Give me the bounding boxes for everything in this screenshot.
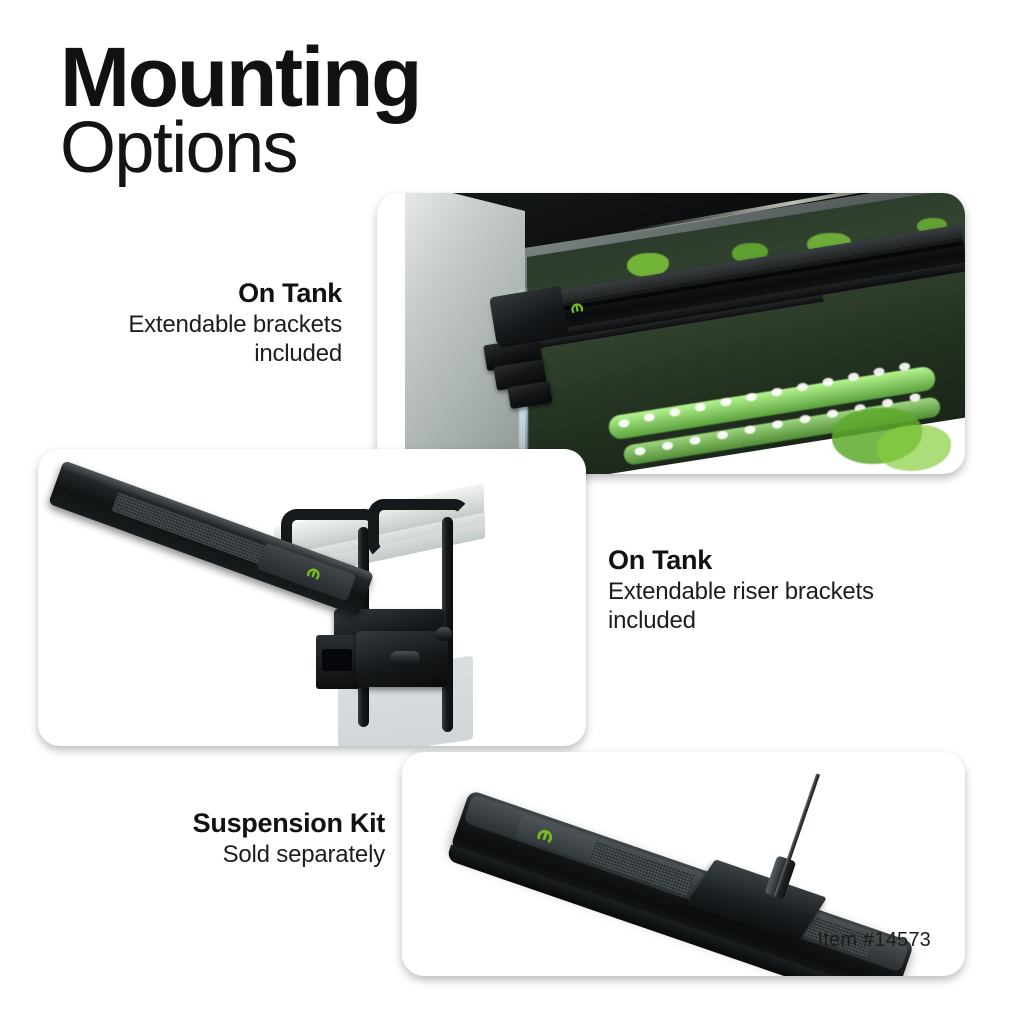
page-title-line2: Options [60, 114, 420, 182]
panel-suspension-kit: Item #14573 [402, 752, 965, 976]
clamp-jaw-slot [322, 649, 352, 671]
caption-heading: On Tank [608, 545, 958, 577]
caption-line-1: Extendable brackets [30, 310, 342, 339]
suspension-kit-photo: Item #14573 [402, 752, 965, 976]
aquarium-tank-photo [377, 193, 965, 474]
page-title: Mounting Options [60, 38, 420, 182]
suspension-cable [774, 773, 820, 897]
infographic-page: Mounting Options On Tank Extendable brac… [0, 0, 1024, 1024]
rod-lock-knob [436, 627, 452, 641]
riser-rod-bend-right [368, 499, 470, 559]
power-icon [568, 300, 586, 318]
item-number: Item #14573 [818, 929, 931, 952]
page-title-line1: Mounting [60, 38, 420, 118]
riser-bracket-photo [38, 449, 586, 746]
caption-heading: Suspension Kit [40, 808, 385, 840]
panel-aquarium-tank [377, 193, 965, 474]
caption-on-tank-brackets: On Tank Extendable brackets included [30, 278, 342, 368]
panel-riser-brackets [38, 449, 586, 746]
thumbscrew [390, 651, 420, 666]
caption-line-1: Extendable riser brackets [608, 577, 958, 606]
caption-heading: On Tank [30, 278, 342, 310]
plant-bush [877, 425, 951, 471]
caption-line-1: Sold separately [40, 840, 385, 869]
caption-line-2: included [30, 339, 342, 368]
caption-suspension-kit: Suspension Kit Sold separately [40, 808, 385, 869]
caption-on-tank-riser: On Tank Extendable riser brackets includ… [608, 545, 958, 635]
caption-line-2: included [608, 606, 958, 635]
